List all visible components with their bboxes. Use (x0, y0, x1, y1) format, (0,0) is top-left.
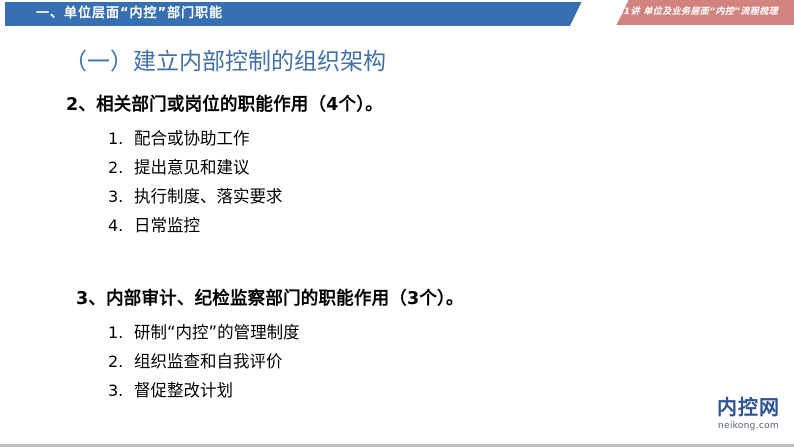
course-label: 第1讲 单位及业务层面“内控”流程梳理 (614, 4, 778, 21)
slide: 一、单位层面“内控”部门职能 第1讲 单位及业务层面“内控”流程梳理 （一）建立… (0, 0, 794, 447)
list-item-number: 1. (108, 124, 134, 153)
list-item: 3.执行制度、落实要求 (0, 182, 794, 211)
slide-section-title: 一、单位层面“内控”部门职能 (36, 3, 223, 24)
list-item-number: 3. (108, 376, 134, 405)
list-item: 4.日常监控 (0, 211, 794, 240)
list-item-number: 2. (108, 347, 134, 376)
group-1-title: 2、相关部门或岗位的职能作用（4个）。 (0, 93, 794, 118)
list-item-label: 执行制度、落实要求 (134, 187, 283, 206)
site-watermark: 内控网 neikong.com (717, 396, 780, 433)
list-item: 1.配合或协助工作 (0, 124, 794, 153)
list-item-number: 2. (108, 153, 134, 182)
watermark-name: 内控网 (717, 396, 780, 418)
group-2-list: 1.研制“内控”的管理制度 2.组织监查和自我评价 3.督促整改计划 (0, 318, 794, 405)
list-item-number: 3. (108, 182, 134, 211)
list-item-label: 日常监控 (134, 216, 200, 235)
list-item-label: 组织监查和自我评价 (134, 352, 283, 371)
watermark-domain: neikong.com (717, 420, 780, 433)
content-group-1: 2、相关部门或岗位的职能作用（4个）。 1.配合或协助工作 2.提出意见和建议 … (0, 93, 794, 240)
list-item: 1.研制“内控”的管理制度 (0, 318, 794, 347)
list-item-label: 督促整改计划 (134, 381, 233, 400)
group-1-list: 1.配合或协助工作 2.提出意见和建议 3.执行制度、落实要求 4.日常监控 (0, 124, 794, 240)
list-item-number: 1. (108, 318, 134, 347)
group-2-title: 3、内部审计、纪检监察部门的职能作用（3个）。 (0, 287, 794, 312)
list-item: 2.提出意见和建议 (0, 153, 794, 182)
top-banner: 一、单位层面“内控”部门职能 第1讲 单位及业务层面“内控”流程梳理 (0, 0, 794, 27)
list-item-label: 研制“内控”的管理制度 (134, 323, 300, 342)
list-item: 3.督促整改计划 (0, 376, 794, 405)
list-item-number: 4. (108, 211, 134, 240)
list-item: 2.组织监查和自我评价 (0, 347, 794, 376)
page-title: （一）建立内部控制的组织架构 (64, 47, 386, 77)
list-item-label: 提出意见和建议 (134, 158, 250, 177)
content-group-2: 3、内部审计、纪检监察部门的职能作用（3个）。 1.研制“内控”的管理制度 2.… (0, 287, 794, 405)
list-item-label: 配合或协助工作 (134, 129, 250, 148)
